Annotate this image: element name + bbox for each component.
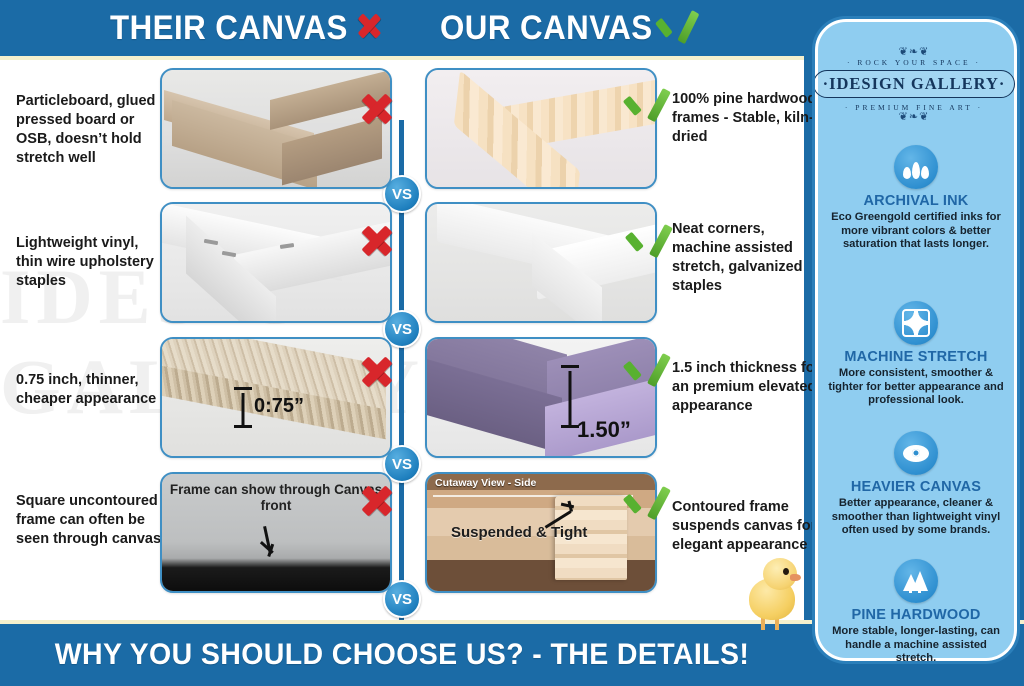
check-mark-icon [630,351,666,388]
sidebar-feature-archival-ink: ARCHIVAL INK Eco Greengold certified ink… [821,145,1011,252]
their-thickness-label: 0:75” [254,395,304,418]
their-photo [160,68,392,189]
brand-logo: ❦❧❦ · ROCK YOUR SPACE · ·IDESIGN GALLERY… [825,33,1003,137]
x-mark-icon [357,9,381,48]
their-photo: Frame can show through Canvas front [160,472,392,593]
particleboard-frame-corner-image [162,70,390,187]
measure-caliper-icon [234,387,252,427]
our-feature-text: Contoured frame suspends canvas for eleg… [672,498,822,555]
ink-drops-icon [894,145,938,189]
their-photo: 0:75” [160,337,392,458]
logo-name: ·IDESIGN GALLERY· [813,70,1016,98]
cutaway-contoured-frame-image: Cutaway View - Side Suspended & Tight [427,474,655,591]
their-feature-text: Square uncontoured frame can often be se… [16,492,166,549]
check-mark-icon [630,86,666,123]
sidebar-feature-desc: More stable, longer-lasting, can handle … [821,625,1011,664]
check-mark-icon [630,484,666,521]
comparison-row: Particleboard, glued pressed board or OS… [0,68,804,199]
sidebar-feature-desc: Eco Greengold certified inks for more vi… [821,211,1011,252]
eye-icon [894,431,938,475]
our-feature-text: Neat corners, machine assisted stretch, … [672,220,822,297]
arrow-down-icon [258,526,278,560]
sidebar-feature-pine-hardwood: PINE HARDWOOD More stable, longer-lastin… [821,559,1011,664]
logo-tagline-top: · ROCK YOUR SPACE · [847,58,981,67]
check-mark-icon [632,222,668,259]
our-canvas-heading-label: OUR CANVAS [440,9,653,48]
comparison-row: Lightweight vinyl, thin wire upholstery … [0,202,804,333]
our-photo [425,202,657,323]
sidebar-feature-title: MACHINE STRETCH [821,349,1011,365]
our-photo: 1.50” [425,337,657,458]
sidebar-feature-desc: Better appearance, cleaner & smoother th… [821,497,1011,538]
comparison-board: IDESIGN GALLERY VS VS VS VS Particleboar… [0,56,804,624]
pine-trees-icon [894,559,938,603]
bottom-banner-label: WHY YOU SHOULD CHOOSE US? - THE DETAILS! [20,624,784,686]
lightweight-vinyl-corner-image [162,204,390,321]
our-photo [425,68,657,189]
features-sidebar: ❦❧❦ · ROCK YOUR SPACE · ·IDESIGN GALLERY… [812,16,1020,664]
thin-particleboard-slab-image: 0:75” [162,339,390,456]
x-mark-icon [360,484,394,523]
logo-flourish-top-icon: ❦❧❦ [899,47,930,58]
sidebar-feature-machine-stretch: MACHINE STRETCH More consistent, smoothe… [821,301,1011,408]
our-overlay-caption: Suspended & Tight [451,524,587,541]
duckling-mascot-icon [745,556,807,628]
their-canvas-heading: THEIR CANVAS [110,8,381,48]
sidebar-feature-heavier-canvas: HEAVIER CANVAS Better appearance, cleane… [821,431,1011,538]
their-canvas-heading-label: THEIR CANVAS [110,9,348,48]
logo-flourish-bottom-icon: ❦❧❦ [899,112,930,123]
comparison-row: 0.75 inch, thinner, cheaper appearance 0… [0,337,804,468]
infographic-page: THEIR CANVAS OUR CANVAS IDESIGN GALLERY … [0,0,1024,682]
their-overlay-caption: Frame can show through Canvas front [162,482,390,515]
their-feature-text: Lightweight vinyl, thin wire upholstery … [16,234,166,291]
x-mark-icon [360,224,394,263]
thick-purple-canvas-corner-image: 1.50” [427,339,655,456]
sidebar-feature-title: PINE HARDWOOD [821,607,1011,623]
our-feature-text: 1.5 inch thickness for an premium elevat… [672,359,822,416]
sidebar-feature-title: HEAVIER CANVAS [821,479,1011,495]
sidebar-feature-title: ARCHIVAL INK [821,193,1011,209]
arrow-up-icon [543,500,577,526]
our-thickness-label: 1.50” [577,417,631,443]
gray-canvas-front-image: Frame can show through Canvas front [162,474,390,591]
our-photo: Cutaway View - Side Suspended & Tight [425,472,657,593]
our-canvas-heading: OUR CANVAS [440,8,695,48]
our-feature-text: 100% pine hardwood frames - Stable, kiln… [672,90,822,147]
x-mark-icon [360,355,394,394]
cutaway-view-caption: Cutaway View - Side [435,477,536,489]
sidebar-feature-desc: More consistent, smoother & tighter for … [821,367,1011,408]
pine-hardwood-frame-corner-image [427,70,655,187]
stretch-frame-icon [894,301,938,345]
neat-white-canvas-corner-image [427,204,655,321]
their-feature-text: 0.75 inch, thinner, cheaper appearance [16,371,166,409]
their-photo [160,202,392,323]
their-feature-text: Particleboard, glued pressed board or OS… [16,92,166,169]
comparison-row: Square uncontoured frame can often be se… [0,472,804,603]
check-mark-icon [662,8,695,49]
x-mark-icon [360,92,394,131]
